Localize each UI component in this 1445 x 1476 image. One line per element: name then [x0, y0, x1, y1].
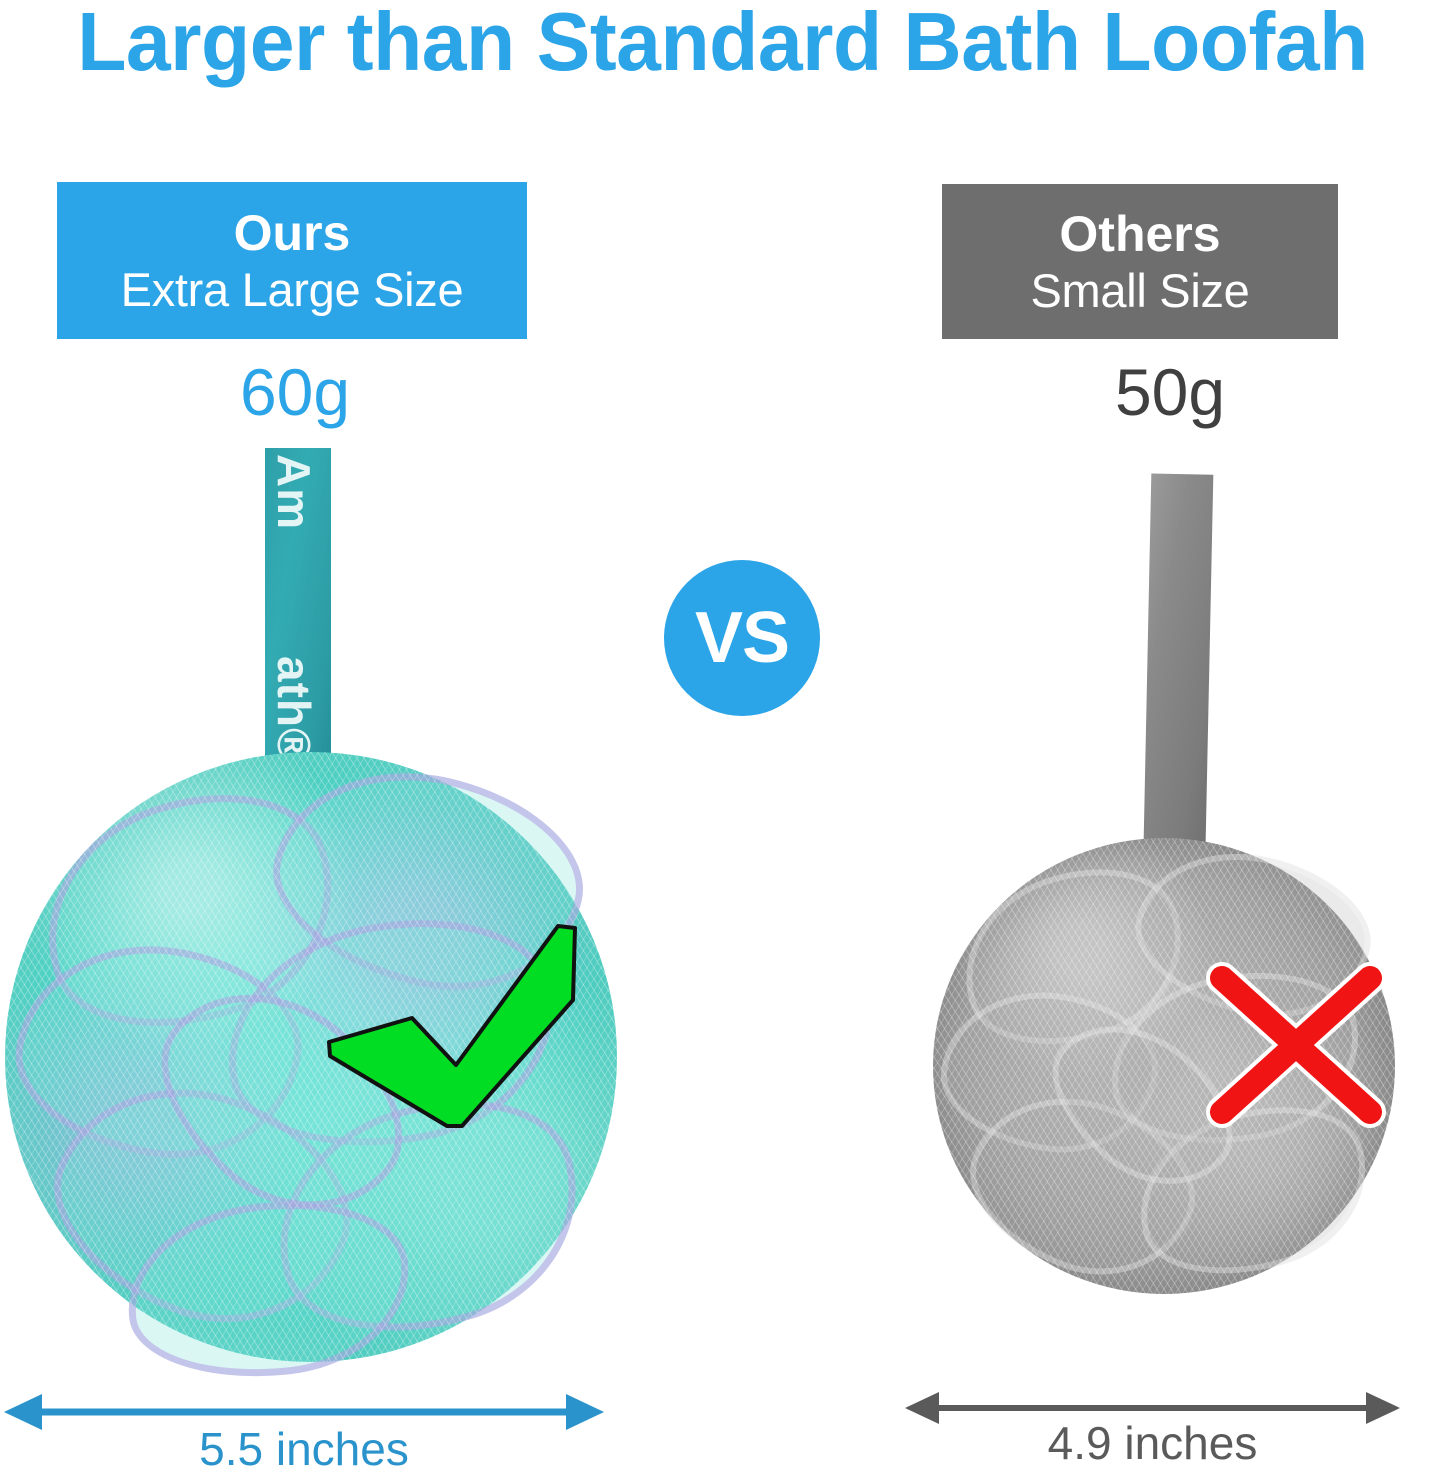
vs-badge-icon: VS: [664, 560, 820, 716]
page-title: Larger than Standard Bath Loofah: [22, 0, 1424, 88]
check-icon: [326, 922, 582, 1132]
cross-icon: [1192, 952, 1400, 1138]
others-banner-main-label: Others: [1059, 205, 1220, 263]
ours-size-label: 5.5 inches: [4, 1422, 604, 1476]
ours-banner-sub-label: Extra Large Size: [121, 262, 464, 318]
others-banner-sub-label: Small Size: [1030, 263, 1249, 319]
others-size-label: 4.9 inches: [905, 1416, 1400, 1470]
others-weight-label: 50g: [1030, 357, 1310, 427]
ours-label-banner: Ours Extra Large Size: [57, 182, 527, 339]
ours-weight-label: 60g: [155, 357, 435, 427]
ours-strap-brand-text-bottom: ath®: [267, 656, 321, 763]
ours-strap-brand-text-top: Am: [267, 454, 321, 530]
ours-hanging-strap: Am ath®: [265, 448, 331, 778]
others-label-banner: Others Small Size: [942, 184, 1338, 339]
ours-banner-main-label: Ours: [234, 204, 351, 262]
others-hanging-strap: [1143, 473, 1213, 872]
comparison-infographic: Larger than Standard Bath Loofah Ours Ex…: [0, 0, 1445, 1476]
